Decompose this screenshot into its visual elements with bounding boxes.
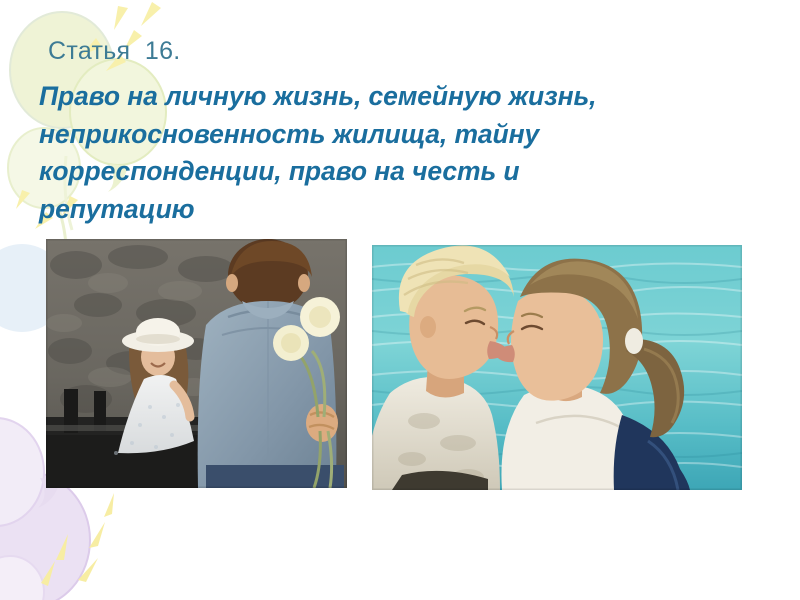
balloon-lilac-small [0,556,44,600]
photo-left-artwork [46,239,347,488]
balloon-lilac-large [0,472,90,600]
spark-rays-bottom [41,493,114,586]
spark-ray-b1 [89,522,105,548]
spark-ray-b5 [104,493,114,517]
balloon-lilac-medium [0,418,44,526]
article-body-line: корреспонденции, право на честь и [39,153,729,191]
spark-ray-1 [114,6,128,30]
slide-canvas: Статья 16. Право на личную жизнь, семейн… [0,0,800,600]
spark-ray-2 [141,2,161,26]
article-body: Право на личную жизнь, семейную жизнь, н… [39,78,729,228]
spark-ray-b2 [56,534,68,560]
photo-right-artwork [372,245,742,490]
spark-ray-8 [16,190,30,209]
photo-boy-with-flowers-and-girl-on-bench [46,239,347,488]
article-body-line: неприкосновенность жилища, тайну [39,116,729,154]
article-body-line: Право на личную жизнь, семейную жизнь, [39,78,729,116]
article-body-line: репутацию [39,191,729,229]
spark-ray-b4 [41,561,55,586]
page-title: Статья 16. [48,36,181,66]
photo-two-children-kissing-by-water [372,245,742,490]
spark-ray-b3 [78,558,98,582]
